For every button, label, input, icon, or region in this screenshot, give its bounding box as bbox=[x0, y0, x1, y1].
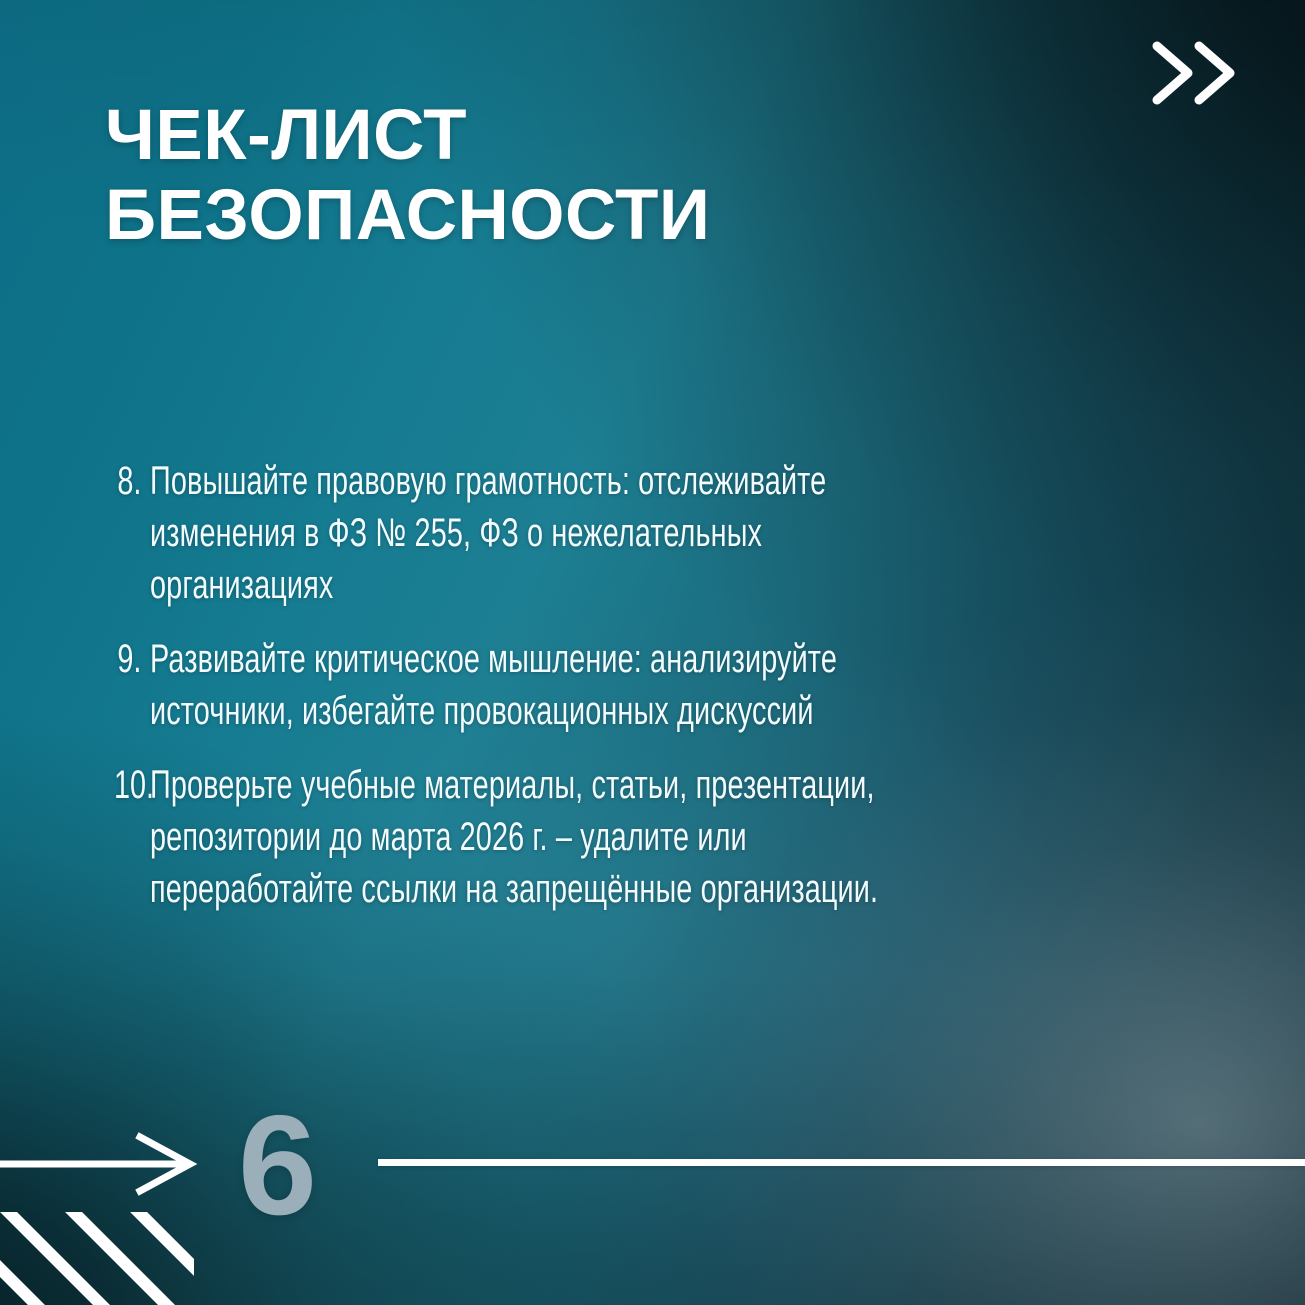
list-item: 8. Повышайте правовую грамотность: отсле… bbox=[100, 455, 1210, 611]
horizontal-rule-decoration bbox=[378, 1159, 1305, 1166]
list-item-number: 9. bbox=[114, 633, 150, 685]
page-title-line-2: БЕЗОПАСНОСТИ bbox=[105, 176, 1005, 256]
list-item: 10. Проверьте учебные материалы, статьи,… bbox=[100, 759, 1210, 915]
slide-root: ЧЕК-ЛИСТ БЕЗОПАСНОСТИ 8. Повышайте право… bbox=[0, 0, 1305, 1305]
page-number: 6 bbox=[238, 1095, 315, 1237]
page-title-line-1: ЧЕК-ЛИСТ bbox=[105, 96, 1005, 176]
checklist: 8. Повышайте правовую грамотность: отсле… bbox=[100, 455, 1210, 915]
page-title: ЧЕК-ЛИСТ БЕЗОПАСНОСТИ bbox=[105, 96, 1005, 255]
diagonal-hatch-decoration bbox=[0, 1212, 194, 1305]
list-item-text: Проверьте учебные материалы, статьи, пре… bbox=[150, 759, 913, 915]
double-chevron-right-icon[interactable] bbox=[1145, 36, 1245, 110]
list-item-number: 8. bbox=[114, 455, 150, 507]
list-item-number: 10. bbox=[114, 759, 150, 811]
list-item: 9. Развивайте критическое мышление: анал… bbox=[100, 633, 1210, 737]
list-item-text: Повышайте правовую грамотность: отслежив… bbox=[150, 455, 913, 611]
arrow-right-icon bbox=[0, 1131, 200, 1197]
list-item-text: Развивайте критическое мышление: анализи… bbox=[150, 633, 913, 737]
